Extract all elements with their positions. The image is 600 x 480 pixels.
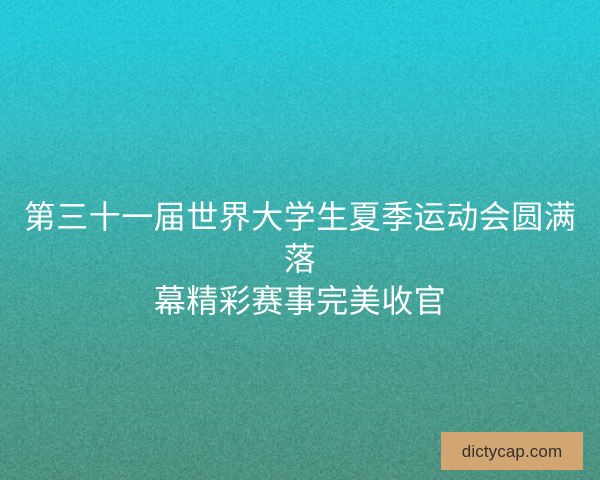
caption-line-2: 幕精彩赛事完美收官 [22,280,578,322]
watermark-badge[interactable]: dictycap.com [441,432,583,470]
caption-card: 第三十一届世界大学生夏季运动会圆满落 幕精彩赛事完美收官 dictycap.co… [0,0,600,480]
caption-line-1: 第三十一届世界大学生夏季运动会圆满落 [22,196,578,280]
caption-text: 第三十一届世界大学生夏季运动会圆满落 幕精彩赛事完美收官 [0,196,600,322]
watermark-label: dictycap.com [462,443,562,460]
